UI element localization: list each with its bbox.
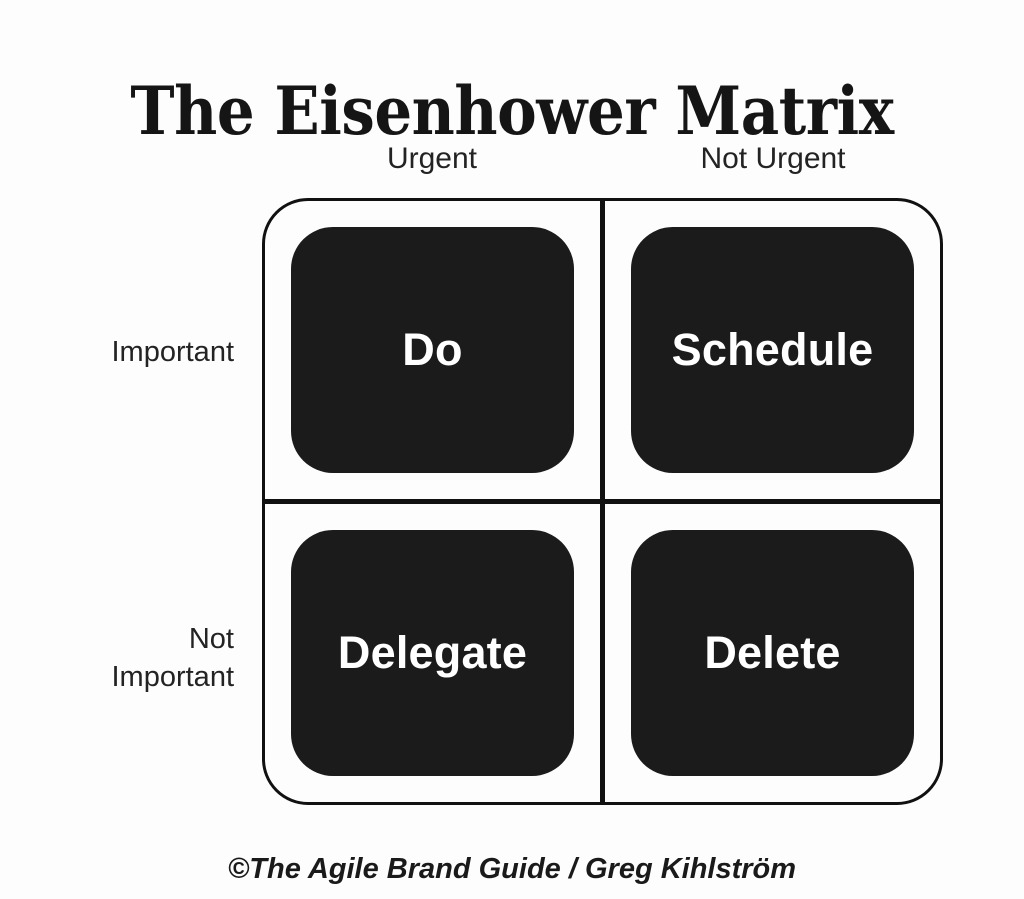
quadrant-delegate-cell[interactable]: Delegate	[291, 530, 574, 776]
quadrant-delegate-label: Delegate	[338, 627, 527, 679]
column-header-not-urgent: Not Urgent	[602, 140, 944, 178]
quadrant-schedule[interactable]: Schedule	[602, 198, 943, 502]
column-header-urgent: Urgent	[262, 140, 602, 178]
quadrant-do[interactable]: Do	[262, 198, 603, 502]
quadrant-delete[interactable]: Delete	[602, 501, 943, 805]
row-header-important: Important	[112, 333, 235, 371]
eisenhower-matrix-page: The Eisenhower Matrix Urgent Not Urgent …	[0, 0, 1024, 899]
quadrant-do-cell[interactable]: Do	[291, 227, 574, 473]
matrix-grid: Do Schedule Delegate Delete	[262, 198, 944, 806]
row-header-not-important: Not Important	[112, 620, 235, 696]
quadrant-delete-label: Delete	[704, 627, 840, 679]
page-title: The Eisenhower Matrix	[51, 72, 973, 150]
quadrant-do-label: Do	[402, 324, 462, 376]
quadrant-schedule-cell[interactable]: Schedule	[631, 227, 914, 473]
quadrant-delete-cell[interactable]: Delete	[631, 530, 914, 776]
attribution-footer: ©The Agile Brand Guide / Greg Kihlström	[0, 850, 1024, 888]
quadrant-schedule-label: Schedule	[672, 324, 874, 376]
quadrant-delegate[interactable]: Delegate	[262, 501, 603, 805]
